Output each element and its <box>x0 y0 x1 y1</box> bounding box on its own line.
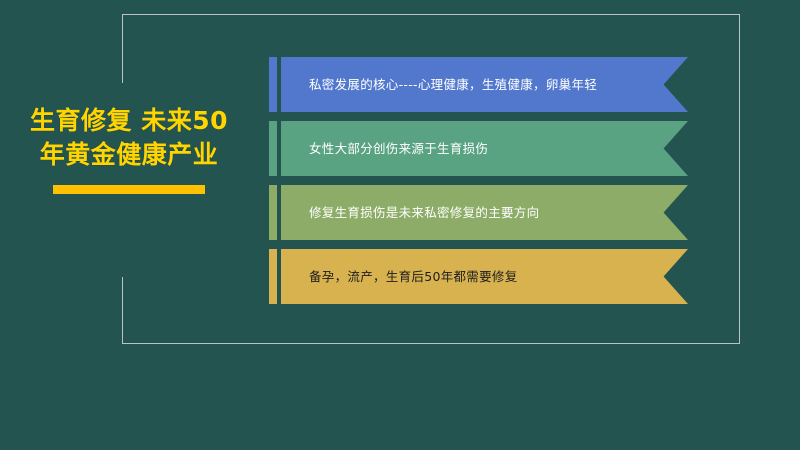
ribbon-accent-tab <box>269 185 277 240</box>
ribbon-accent-tab <box>269 121 277 176</box>
frame-line-left-lower <box>122 277 123 344</box>
ribbon-banner[interactable]: 女性大部分创伤来源于生育损伤 <box>281 121 688 176</box>
ribbon-banner[interactable]: 私密发展的核心----心理健康，生殖健康，卵巢年轻 <box>281 57 688 112</box>
title-underline-rule <box>53 185 205 194</box>
title-block: 生育修复 未来50年黄金健康产业 <box>18 104 240 194</box>
frame-line-top <box>122 14 740 15</box>
ribbon-label: 备孕，流产，生育后50年都需要修复 <box>309 269 518 284</box>
frame-line-right <box>739 14 740 344</box>
page-title: 生育修复 未来50年黄金健康产业 <box>18 104 240 171</box>
ribbon-label: 女性大部分创伤来源于生育损伤 <box>309 141 488 156</box>
frame-line-left-upper <box>122 14 123 83</box>
ribbon-label: 修复生育损伤是未来私密修复的主要方向 <box>309 205 539 220</box>
frame-line-bottom <box>122 343 740 344</box>
slide-canvas: 生育修复 未来50年黄金健康产业 私密发展的核心----心理健康，生殖健康，卵巢… <box>0 0 800 450</box>
ribbon-banner[interactable]: 备孕，流产，生育后50年都需要修复 <box>281 249 688 304</box>
ribbon-banner[interactable]: 修复生育损伤是未来私密修复的主要方向 <box>281 185 688 240</box>
ribbon-label: 私密发展的核心----心理健康，生殖健康，卵巢年轻 <box>309 77 597 92</box>
ribbon-accent-tab <box>269 57 277 112</box>
ribbon-accent-tab <box>269 249 277 304</box>
